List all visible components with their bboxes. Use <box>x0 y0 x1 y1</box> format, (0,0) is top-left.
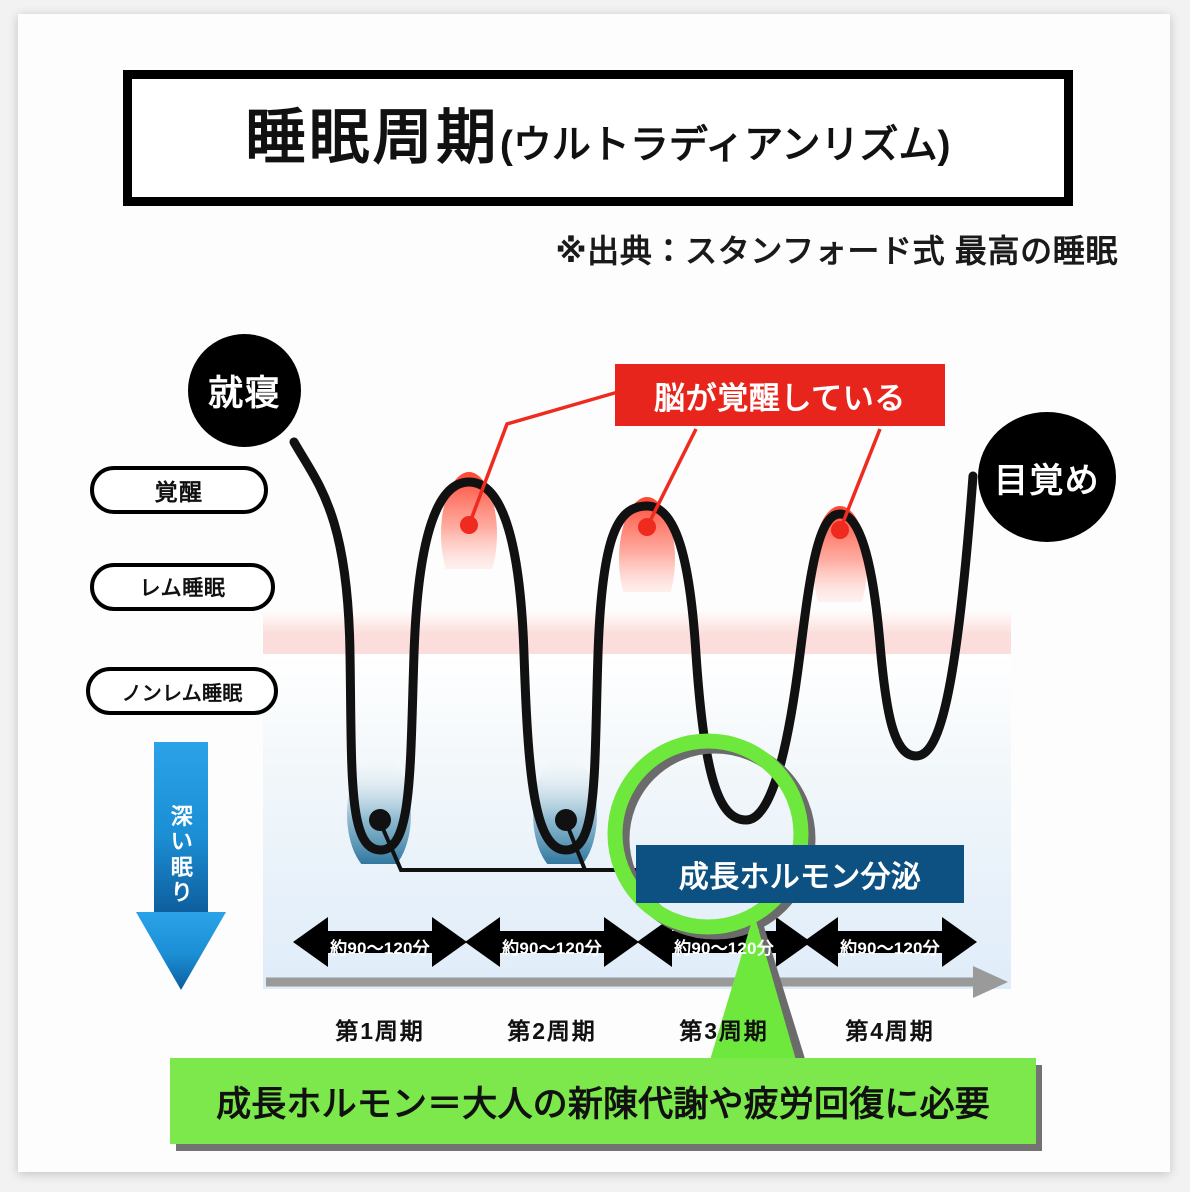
growth-hormone-callout-text: 成長ホルモン分泌 <box>679 852 921 896</box>
stage-label-rem: レム睡眠 <box>90 563 275 611</box>
growth-hormone-banner: 成長ホルモン＝大人の新陳代謝や疲労回復に必要 <box>170 1058 1036 1144</box>
growth-hormone-callout: 成長ホルモン分泌 <box>636 845 964 903</box>
peak-dot-3 <box>831 521 849 539</box>
deep-sleep-char-3: 眠 <box>136 855 228 880</box>
deep-sleep-char-4: り <box>136 880 228 905</box>
duration-label-1: 約90〜120分 <box>300 934 460 959</box>
infographic-card: 睡眠周期(ウルトラディアンリズム) ※出典：スタンフォード式 最高の睡眠 <box>18 14 1170 1172</box>
cycle-label-2: 第2周期 <box>472 1012 632 1046</box>
cycle-label-3: 第3周期 <box>644 1012 804 1046</box>
time-axis-arrow <box>266 966 1008 998</box>
wakeup-badge: 目覚め <box>978 412 1116 542</box>
red-leader-line-3 <box>840 429 880 530</box>
duration-label-4: 約90〜120分 <box>810 934 970 959</box>
brain-awake-callout: 脳が覚醒している <box>615 364 945 426</box>
bedtime-badge: 就寝 <box>188 334 301 447</box>
peak-dot-1 <box>460 516 478 534</box>
brain-awake-callout-text: 脳が覚醒している <box>654 373 906 418</box>
stage-label-nonrem: ノンレム睡眠 <box>86 667 278 715</box>
cycle-label-4: 第4周期 <box>810 1012 970 1046</box>
duration-label-2: 約90〜120分 <box>472 934 632 959</box>
deep-sleep-char-1: 深 <box>136 804 228 829</box>
peak-dot-2 <box>638 518 656 536</box>
cycle-label-1: 第1周期 <box>300 1012 460 1046</box>
growth-hormone-banner-text: 成長ホルモン＝大人の新陳代謝や疲労回復に必要 <box>216 1076 990 1127</box>
deep-sleep-char-2: い <box>136 829 228 854</box>
trough-dot-1 <box>369 809 391 831</box>
trough-leader-line-1 <box>380 822 643 870</box>
duration-label-3: 約90〜120分 <box>644 934 804 959</box>
deep-sleep-label: 深 い 眠 り <box>136 804 228 905</box>
stage-label-awake: 覚醒 <box>90 466 268 514</box>
red-leader-line-2 <box>647 429 696 527</box>
trough-dot-2 <box>555 809 577 831</box>
